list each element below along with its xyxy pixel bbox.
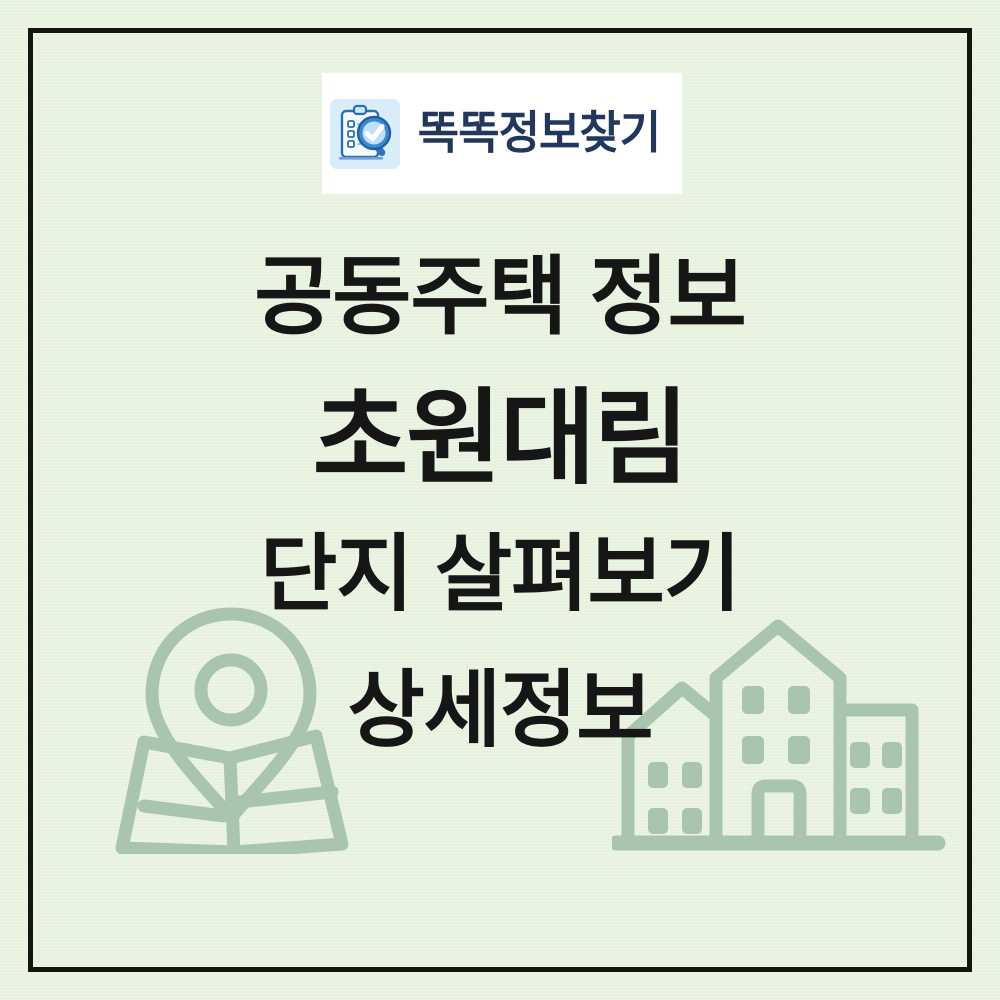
headline-line-3: 단지 살펴보기 bbox=[0, 527, 1000, 621]
map-pin-with-folded-map-icon bbox=[106, 606, 356, 854]
brand-name-text: 똑똑정보찾기 bbox=[400, 110, 682, 157]
headline-line-4: 상세정보 bbox=[0, 663, 1000, 757]
apartment-buildings-icon bbox=[612, 612, 948, 854]
brand-logo-plate: 똑똑정보찾기 bbox=[322, 73, 682, 194]
thumbnail-card: 똑똑정보찾기 공동주택 정보 초원대림 단지 살펴보기 상세정보 bbox=[0, 0, 1000, 1000]
headline-line-2-complex-name: 초원대림 bbox=[0, 383, 1000, 495]
clipboard-magnifier-icon bbox=[330, 99, 400, 169]
headline-line-1: 공동주택 정보 bbox=[0, 249, 1000, 345]
